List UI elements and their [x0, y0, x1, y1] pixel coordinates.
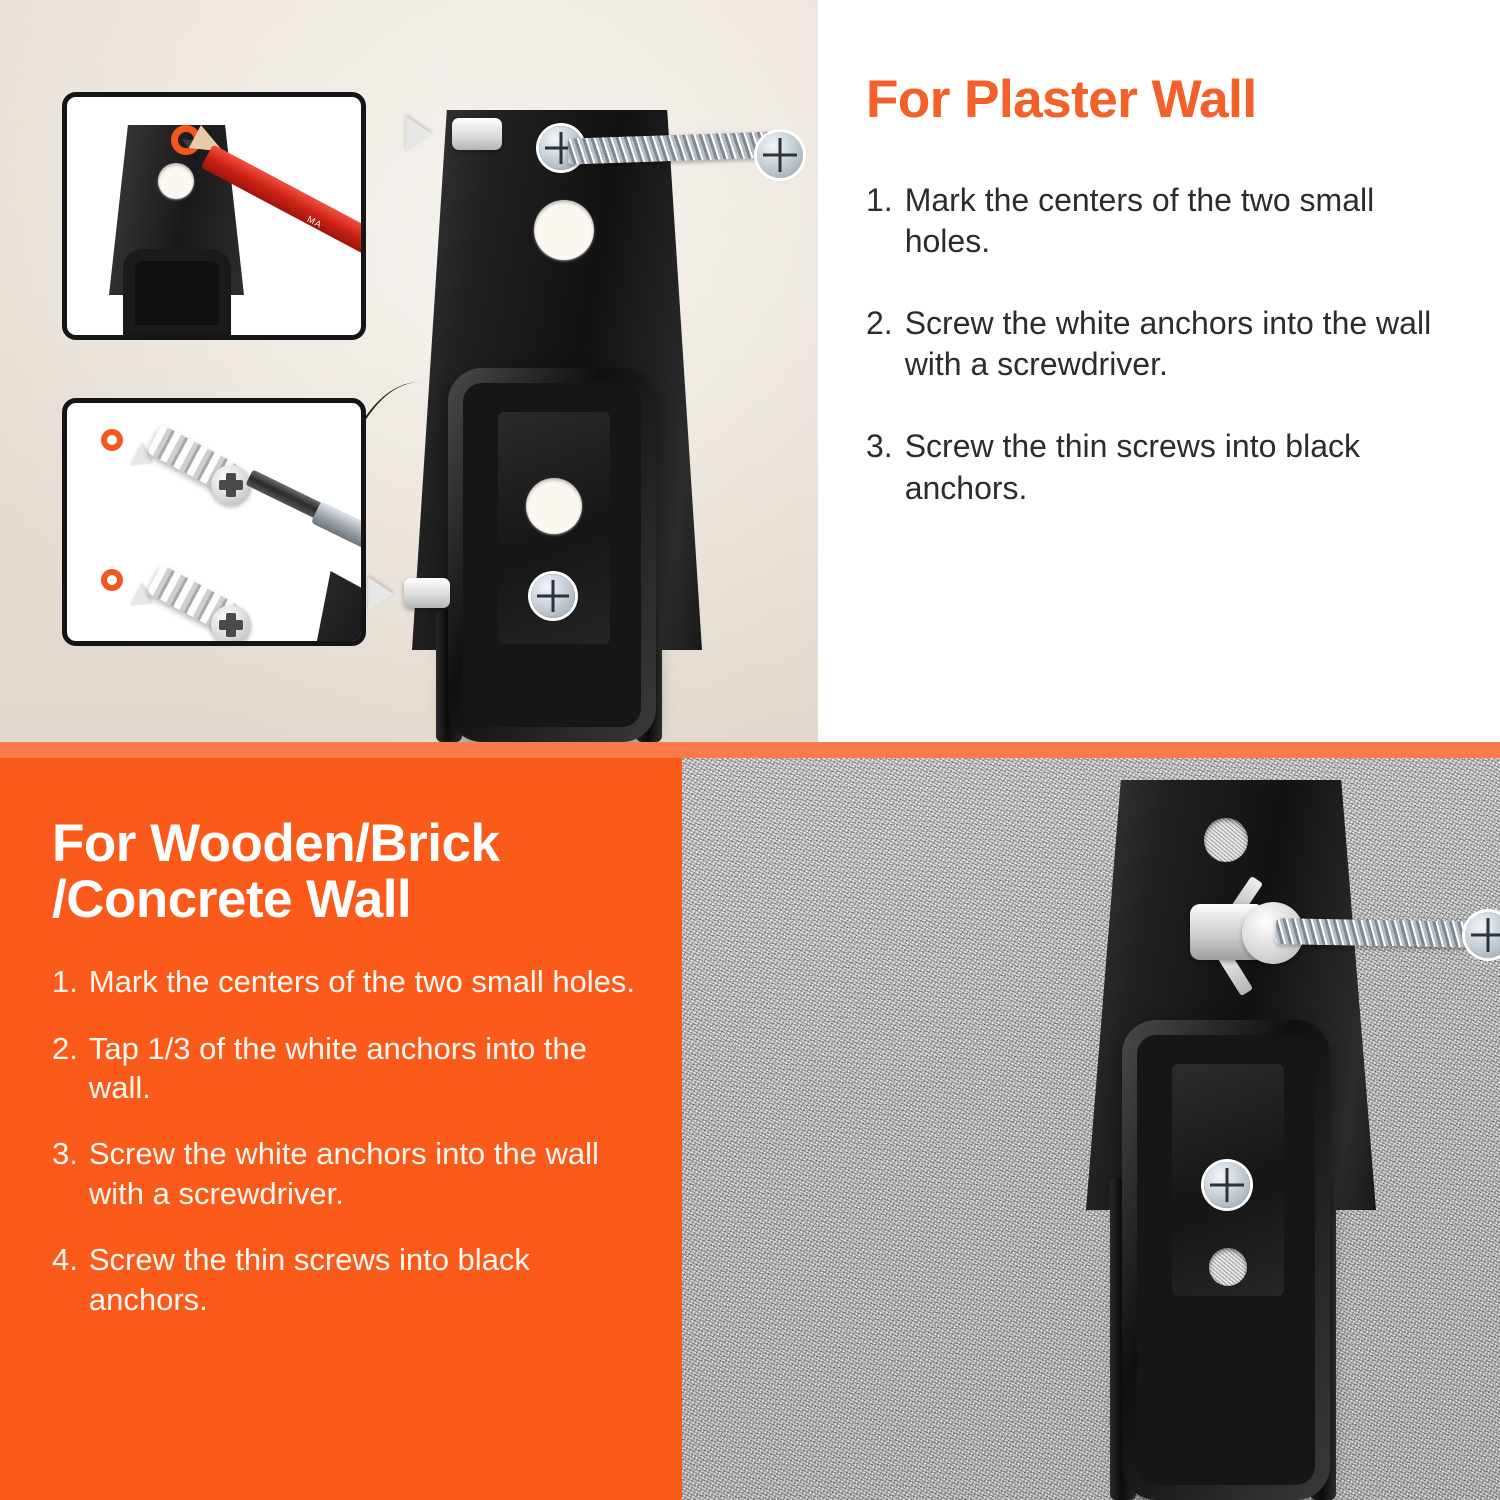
bracket-lower-hole	[1209, 1248, 1247, 1286]
step-item: 3. Screw the thin screws into black anch…	[866, 426, 1460, 509]
step-item: 3. Screw the white anchors into the wall…	[52, 1134, 646, 1213]
inset-hook-frame	[123, 249, 231, 337]
step-number: 2.	[866, 303, 893, 386]
pencil-marking-inset: MA	[62, 92, 366, 340]
plaster-steps-list: 1. Mark the centers of the two small hol…	[866, 180, 1460, 510]
step-text: Screw the white anchors into the wall wi…	[89, 1134, 646, 1213]
step-number: 3.	[866, 426, 893, 509]
concrete-wall-photo	[682, 758, 1500, 1500]
bracket-upper-hole	[1204, 818, 1248, 862]
concrete-screw-head	[1465, 912, 1500, 958]
inset-bracket-corner	[313, 571, 366, 646]
wooden-brick-concrete-section: For Wooden/Brick /Concrete Wall 1. Mark …	[0, 758, 1500, 1500]
step-number: 1.	[866, 180, 893, 263]
plaster-wall-title: For Plaster Wall	[866, 72, 1460, 128]
upper-screw-tip-head	[757, 132, 803, 178]
lower-screw-head	[1204, 1162, 1250, 1208]
anchor-marker-ring-2	[101, 569, 123, 591]
white-anchor-screwdriver-inset	[62, 398, 366, 646]
step-number: 1.	[52, 962, 78, 1001]
step-text: Screw the white anchors into the wall wi…	[905, 303, 1460, 386]
wooden-wall-title-line1: For Wooden/Brick	[52, 816, 646, 872]
anchor-phillips-1	[219, 473, 243, 497]
plaster-wall-section: MA	[0, 0, 1500, 742]
step-item: 4. Screw the thin screws into black anch…	[52, 1240, 646, 1319]
step-number: 3.	[52, 1134, 78, 1213]
step-text: Screw the thin screws into black anchors…	[905, 426, 1460, 509]
lower-screw-head	[531, 574, 575, 618]
step-text: Mark the centers of the two small holes.	[905, 180, 1460, 263]
wooden-wall-title: For Wooden/Brick /Concrete Wall	[52, 816, 646, 928]
instruction-infographic: MA	[0, 0, 1500, 1500]
plaster-wall-photo: MA	[0, 0, 818, 742]
bracket-upper-hole	[534, 200, 594, 260]
step-item: 2. Tap 1/3 of the white anchors into the…	[52, 1029, 646, 1108]
bracket-lower-hole	[526, 478, 582, 534]
step-item: 1. Mark the centers of the two small hol…	[866, 180, 1460, 263]
anchor-phillips-2	[219, 613, 243, 637]
inset-bracket-hole	[158, 163, 194, 199]
step-number: 2.	[52, 1029, 78, 1108]
step-item: 2. Screw the white anchors into the wall…	[866, 303, 1460, 386]
plaster-wall-text-panel: For Plaster Wall 1. Mark the centers of …	[818, 0, 1500, 742]
step-number: 4.	[52, 1240, 78, 1319]
screwdriver-collar	[311, 501, 366, 549]
step-item: 1. Mark the centers of the two small hol…	[52, 962, 646, 1001]
upper-white-anchor	[452, 118, 502, 150]
step-text: Mark the centers of the two small holes.	[89, 962, 646, 1001]
wooden-wall-title-line2: /Concrete Wall	[52, 872, 646, 928]
upper-anchor-tip	[406, 116, 433, 152]
section-divider	[0, 742, 1500, 758]
concrete-screw-thread	[1276, 918, 1486, 948]
wooden-steps-list: 1. Mark the centers of the two small hol…	[52, 962, 646, 1319]
step-text: Screw the thin screws into black anchors…	[89, 1240, 646, 1319]
anchor-marker-ring-1	[101, 429, 123, 451]
wooden-wall-text-panel: For Wooden/Brick /Concrete Wall 1. Mark …	[0, 758, 682, 1500]
step-text: Tap 1/3 of the white anchors into the wa…	[89, 1029, 646, 1108]
